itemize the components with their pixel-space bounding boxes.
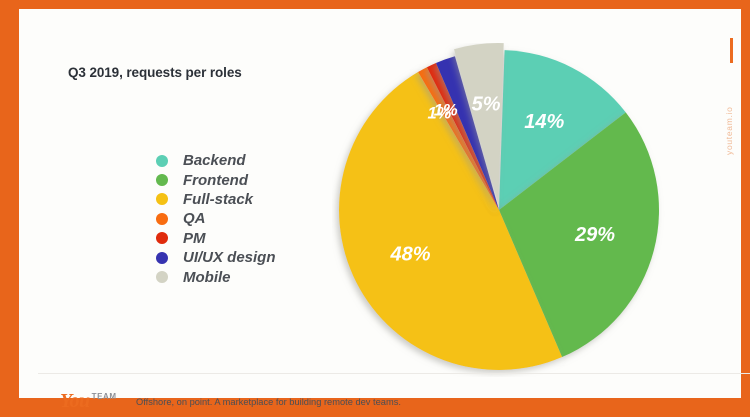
footer-divider bbox=[38, 373, 750, 374]
brand-tick-mark bbox=[730, 38, 733, 63]
legend-item-ui-ux-design[interactable]: UI/UX design bbox=[156, 248, 276, 267]
logo-wordmark-you: You bbox=[60, 391, 90, 411]
legend-swatch-backend bbox=[156, 155, 168, 167]
legend-swatch-full-stack bbox=[156, 193, 168, 205]
pie-chart: 14%29%48%1%1%2%5% bbox=[332, 43, 666, 377]
legend-item-backend[interactable]: Backend bbox=[156, 151, 276, 170]
legend-label-mobile: Mobile bbox=[183, 269, 231, 286]
legend-label-frontend: Frontend bbox=[183, 172, 248, 189]
legend-label-qa: QA bbox=[183, 210, 206, 227]
slide-frame: Q3 2019, requests per roles Backend Fron… bbox=[0, 0, 750, 417]
legend-label-pm: PM bbox=[183, 230, 206, 247]
legend-swatch-ui-ux-design bbox=[156, 252, 168, 264]
legend-swatch-qa bbox=[156, 213, 168, 225]
pie-label-mobile: 5% bbox=[472, 94, 501, 116]
pie-label-ui-ux-design: 2% bbox=[417, 43, 443, 46]
pie-chart-svg: 14%29%48%1%1%2%5% bbox=[332, 43, 666, 377]
legend-item-qa[interactable]: QA bbox=[156, 209, 276, 228]
pie-label-frontend: 29% bbox=[574, 224, 615, 246]
legend-label-backend: Backend bbox=[183, 152, 246, 169]
pie-slice-group bbox=[339, 43, 659, 370]
footer-tagline: Offshore, on point. A marketplace for bu… bbox=[136, 397, 401, 407]
legend-swatch-frontend bbox=[156, 174, 168, 186]
legend-item-mobile[interactable]: Mobile bbox=[156, 267, 276, 286]
brand-url-vertical: youteam.io bbox=[724, 75, 738, 155]
page-title: Q3 2019, requests per roles bbox=[68, 65, 242, 80]
youteam-logo[interactable]: You TEAM bbox=[60, 391, 117, 411]
slide-canvas: Q3 2019, requests per roles Backend Fron… bbox=[19, 9, 741, 398]
pie-label-full-stack: 48% bbox=[389, 244, 430, 266]
chart-legend: Backend Frontend Full-stack QA PM UI/UX bbox=[156, 151, 276, 287]
legend-item-pm[interactable]: PM bbox=[156, 229, 276, 248]
legend-swatch-mobile bbox=[156, 271, 168, 283]
legend-item-frontend[interactable]: Frontend bbox=[156, 170, 276, 189]
legend-label-ui-ux-design: UI/UX design bbox=[183, 249, 276, 266]
pie-label-pm: 1% bbox=[434, 102, 458, 120]
legend-item-full-stack[interactable]: Full-stack bbox=[156, 190, 276, 209]
logo-wordmark-team: TEAM bbox=[92, 392, 117, 401]
legend-swatch-pm bbox=[156, 232, 168, 244]
pie-label-backend: 14% bbox=[524, 111, 564, 133]
legend-label-full-stack: Full-stack bbox=[183, 191, 253, 208]
